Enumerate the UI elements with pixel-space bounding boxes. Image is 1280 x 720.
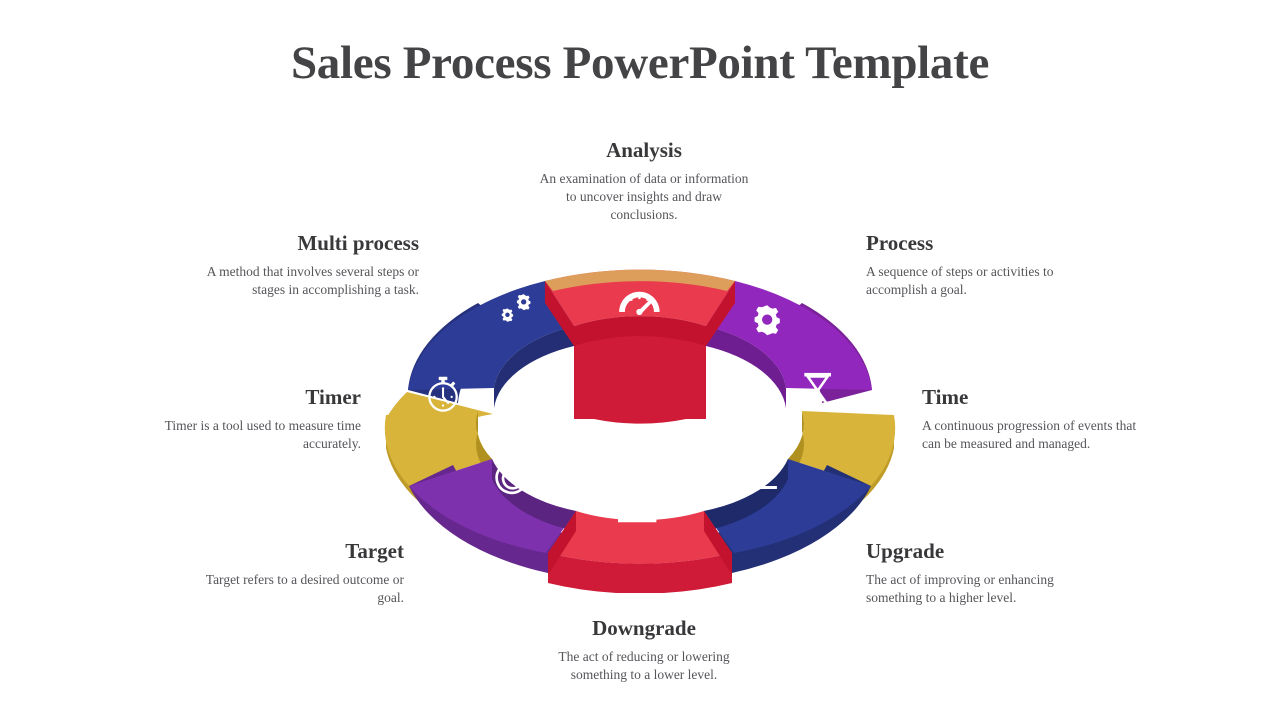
callout-target: Target Target refers to a desired outcom…: [186, 539, 404, 607]
slide-canvas: Sales Process PowerPoint Template Analys…: [0, 0, 1280, 720]
callout-time-desc: A continuous progression of events that …: [922, 417, 1154, 453]
segment-analysis[interactable]: [545, 270, 735, 424]
callout-target-title: Target: [186, 539, 404, 564]
callout-timer-title: Timer: [133, 385, 361, 410]
callout-analysis: Analysis An examination of data or infor…: [514, 138, 774, 224]
page-title: Sales Process PowerPoint Template: [0, 38, 1280, 90]
callout-downgrade-title: Downgrade: [514, 616, 774, 641]
process-wheel-diagram: [378, 243, 902, 593]
callout-time: Time A continuous progression of events …: [922, 385, 1154, 453]
callout-downgrade-desc: The act of reducing or lowering somethin…: [514, 648, 774, 684]
segment-multi-process[interactable]: [389, 250, 574, 408]
callout-target-desc: Target refers to a desired outcome or go…: [186, 571, 404, 607]
gear-icon: [755, 305, 780, 335]
callout-analysis-title: Analysis: [514, 138, 774, 163]
callout-timer: Timer Timer is a tool used to measure ti…: [133, 385, 361, 453]
callout-time-title: Time: [922, 385, 1154, 410]
callout-analysis-desc: An examination of data or information to…: [514, 170, 774, 224]
segment-analysis-inner-front: [574, 346, 706, 419]
callout-timer-desc: Timer is a tool used to measure time acc…: [133, 417, 361, 453]
callout-downgrade: Downgrade The act of reducing or lowerin…: [514, 616, 774, 684]
